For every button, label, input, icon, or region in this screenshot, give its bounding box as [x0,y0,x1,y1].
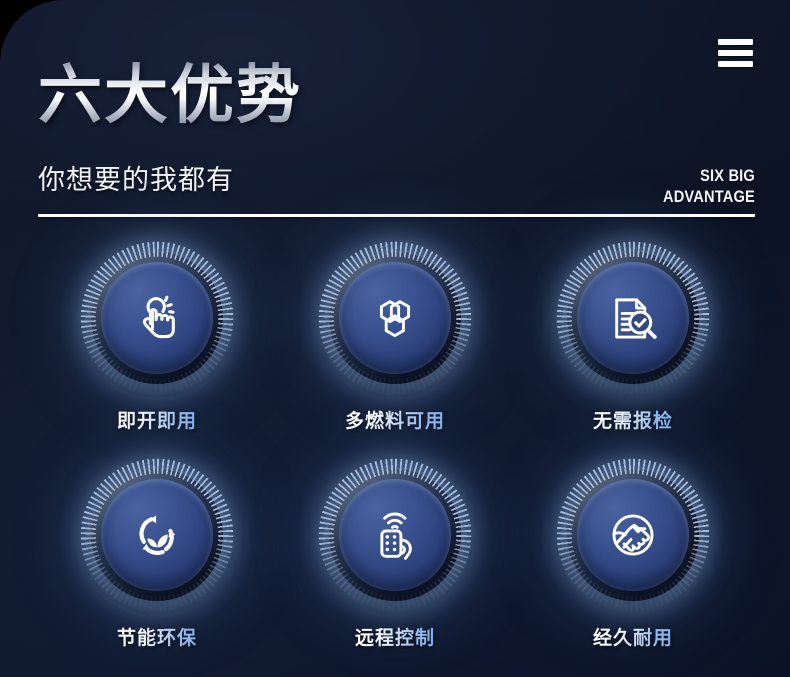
advantage-icon-button-1[interactable] [101,262,213,374]
advantage-card-3[interactable]: 无需报检 [514,238,752,433]
advantage-icon-button-6[interactable] [577,479,689,591]
eyebrow-line-1: SIX BIG [663,166,755,187]
advantages-banner: 六大优势 你想要的我都有 SIX BIG ADVANTAGE [0,0,790,677]
honeycomb-hexagons-icon [366,289,424,347]
hamburger-bar-1 [718,39,753,45]
advantage-label-2: 多燃料可用 [345,406,445,433]
eyebrow-english-label: SIX BIG ADVANTAGE [663,166,755,207]
hamburger-menu-icon[interactable] [718,39,753,67]
advantage-label-4: 节能环保 [117,623,197,650]
page-subtitle: 你想要的我都有 [38,158,234,197]
advantages-grid: 即开即用 多燃料可用 [38,238,752,650]
dial-2 [315,238,475,398]
dial-6 [553,455,713,615]
header-divider [38,214,755,217]
advantage-card-6[interactable]: 经久耐用 [514,455,752,650]
advantage-label-3: 无需报检 [593,406,673,433]
advantage-icon-button-5[interactable] [339,479,451,591]
advantage-card-4[interactable]: 节能环保 [38,455,276,650]
advantage-icon-button-4[interactable] [101,479,213,591]
advantage-label-5: 远程控制 [355,623,435,650]
dial-3 [553,238,713,398]
advantage-card-1[interactable]: 即开即用 [38,238,276,433]
handshake-globe-icon [604,506,662,564]
hamburger-bar-3 [718,61,753,67]
advantage-label-6: 经久耐用 [593,623,673,650]
dial-1 [77,238,237,398]
dial-5 [315,455,475,615]
eyebrow-line-2: ADVANTAGE [663,187,755,208]
advantage-label-1: 即开即用 [117,406,197,433]
advantage-icon-button-3[interactable] [577,262,689,374]
document-magnifier-check-icon [604,289,662,347]
hamburger-bar-2 [718,50,753,56]
advantage-icon-button-2[interactable] [339,262,451,374]
dial-4 [77,455,237,615]
remote-control-hand-icon [366,506,424,564]
recycle-leaf-icon [128,506,186,564]
advantage-card-5[interactable]: 远程控制 [276,455,514,650]
hand-touch-icon [128,289,186,347]
advantage-card-2[interactable]: 多燃料可用 [276,238,514,433]
page-title: 六大优势 [38,62,302,129]
